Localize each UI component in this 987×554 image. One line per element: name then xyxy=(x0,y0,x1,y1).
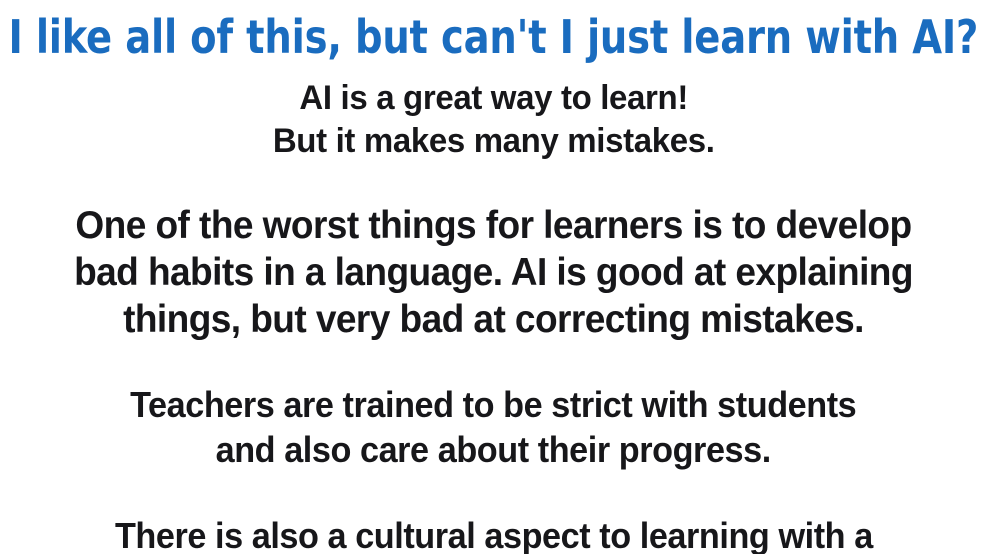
slide-content: I like all of this, but can't I just lea… xyxy=(0,0,987,554)
paragraph-cultural: There is also a cultural aspect to learn… xyxy=(115,514,873,554)
paragraph-teachers: Teachers are trained to be strict with s… xyxy=(130,383,856,472)
slide-title: I like all of this, but can't I just lea… xyxy=(9,13,979,62)
slide-canvas: I like all of this, but can't I just lea… xyxy=(0,0,987,554)
paragraph-bad-habits: One of the worst things for learners is … xyxy=(74,203,913,343)
paragraph-intro: AI is a great way to learn! But it makes… xyxy=(273,77,715,163)
